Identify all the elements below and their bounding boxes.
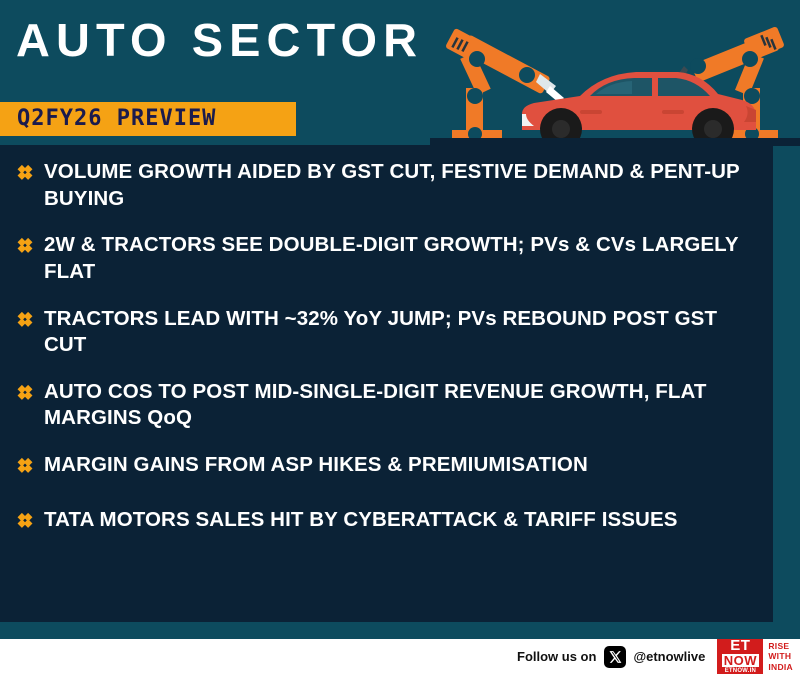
diamond-cluster-bullet-icon [14,237,36,259]
tagline-line-3: INDIA [768,662,793,673]
etnow-logo-et: ET [730,639,750,653]
etnow-logo-now: NOW [722,654,759,668]
etnow-logo[interactable]: ET NOW ETNOW.IN RISE WITH INDIA [717,639,796,674]
list-item: MARGIN GAINS FROM ASP HIKES & PREMIUMISA… [14,452,753,479]
tagline-line-1: RISE [768,641,793,652]
list-item-text: 2W & TRACTORS SEE DOUBLE-DIGIT GROWTH; P… [44,232,744,285]
list-item-text: TRACTORS LEAD WITH ~32% YoY JUMP; PVs RE… [44,306,744,359]
list-item: TATA MOTORS SALES HIT BY CYBERATTACK & T… [14,507,753,534]
header-band: AUTO SECTOR Q2FY26 PREVIEW [0,0,800,146]
teal-divider-strip [0,622,800,639]
list-item: VOLUME GROWTH AIDED BY GST CUT, FESTIVE … [14,159,753,212]
sub-banner-label: Q2FY26 PREVIEW [0,108,216,130]
list-item-text: VOLUME GROWTH AIDED BY GST CUT, FESTIVE … [44,159,744,212]
bullet-list-panel: VOLUME GROWTH AIDED BY GST CUT, FESTIVE … [0,145,773,622]
car-assembly-illustration [430,10,800,146]
infographic-poster: AUTO SECTOR Q2FY26 PREVIEW [0,0,800,674]
list-item-text: TATA MOTORS SALES HIT BY CYBERATTACK & T… [44,507,678,534]
list-item: 2W & TRACTORS SEE DOUBLE-DIGIT GROWTH; P… [14,232,753,285]
diamond-cluster-bullet-icon [14,457,36,479]
list-item: AUTO COS TO POST MID-SINGLE-DIGIT REVENU… [14,379,753,432]
diamond-cluster-bullet-icon [14,512,36,534]
tagline-line-2: WITH [768,651,793,662]
etnow-logo-url: ETNOW.IN [725,668,756,674]
list-item-text: AUTO COS TO POST MID-SINGLE-DIGIT REVENU… [44,379,744,432]
tagline-rise-with-india: RISE WITH INDIA [763,639,796,674]
diamond-cluster-bullet-icon [14,311,36,333]
footer-bar: Follow us on @etnowlive ET NOW ETNOW.IN … [0,639,800,674]
etnow-mark: ET NOW ETNOW.IN [717,639,763,674]
list-item: TRACTORS LEAD WITH ~32% YoY JUMP; PVs RE… [14,306,753,359]
follow-us-label: Follow us on [517,649,596,664]
diamond-cluster-bullet-icon [14,164,36,186]
page-title: AUTO SECTOR [16,17,423,63]
social-handle[interactable]: @etnowlive [633,649,705,664]
list-item-text: MARGIN GAINS FROM ASP HIKES & PREMIUMISA… [44,452,588,479]
diamond-cluster-bullet-icon [14,384,36,406]
x-twitter-icon[interactable] [604,646,626,668]
sub-banner: Q2FY26 PREVIEW [0,102,296,136]
red-sedan-car [522,72,756,146]
